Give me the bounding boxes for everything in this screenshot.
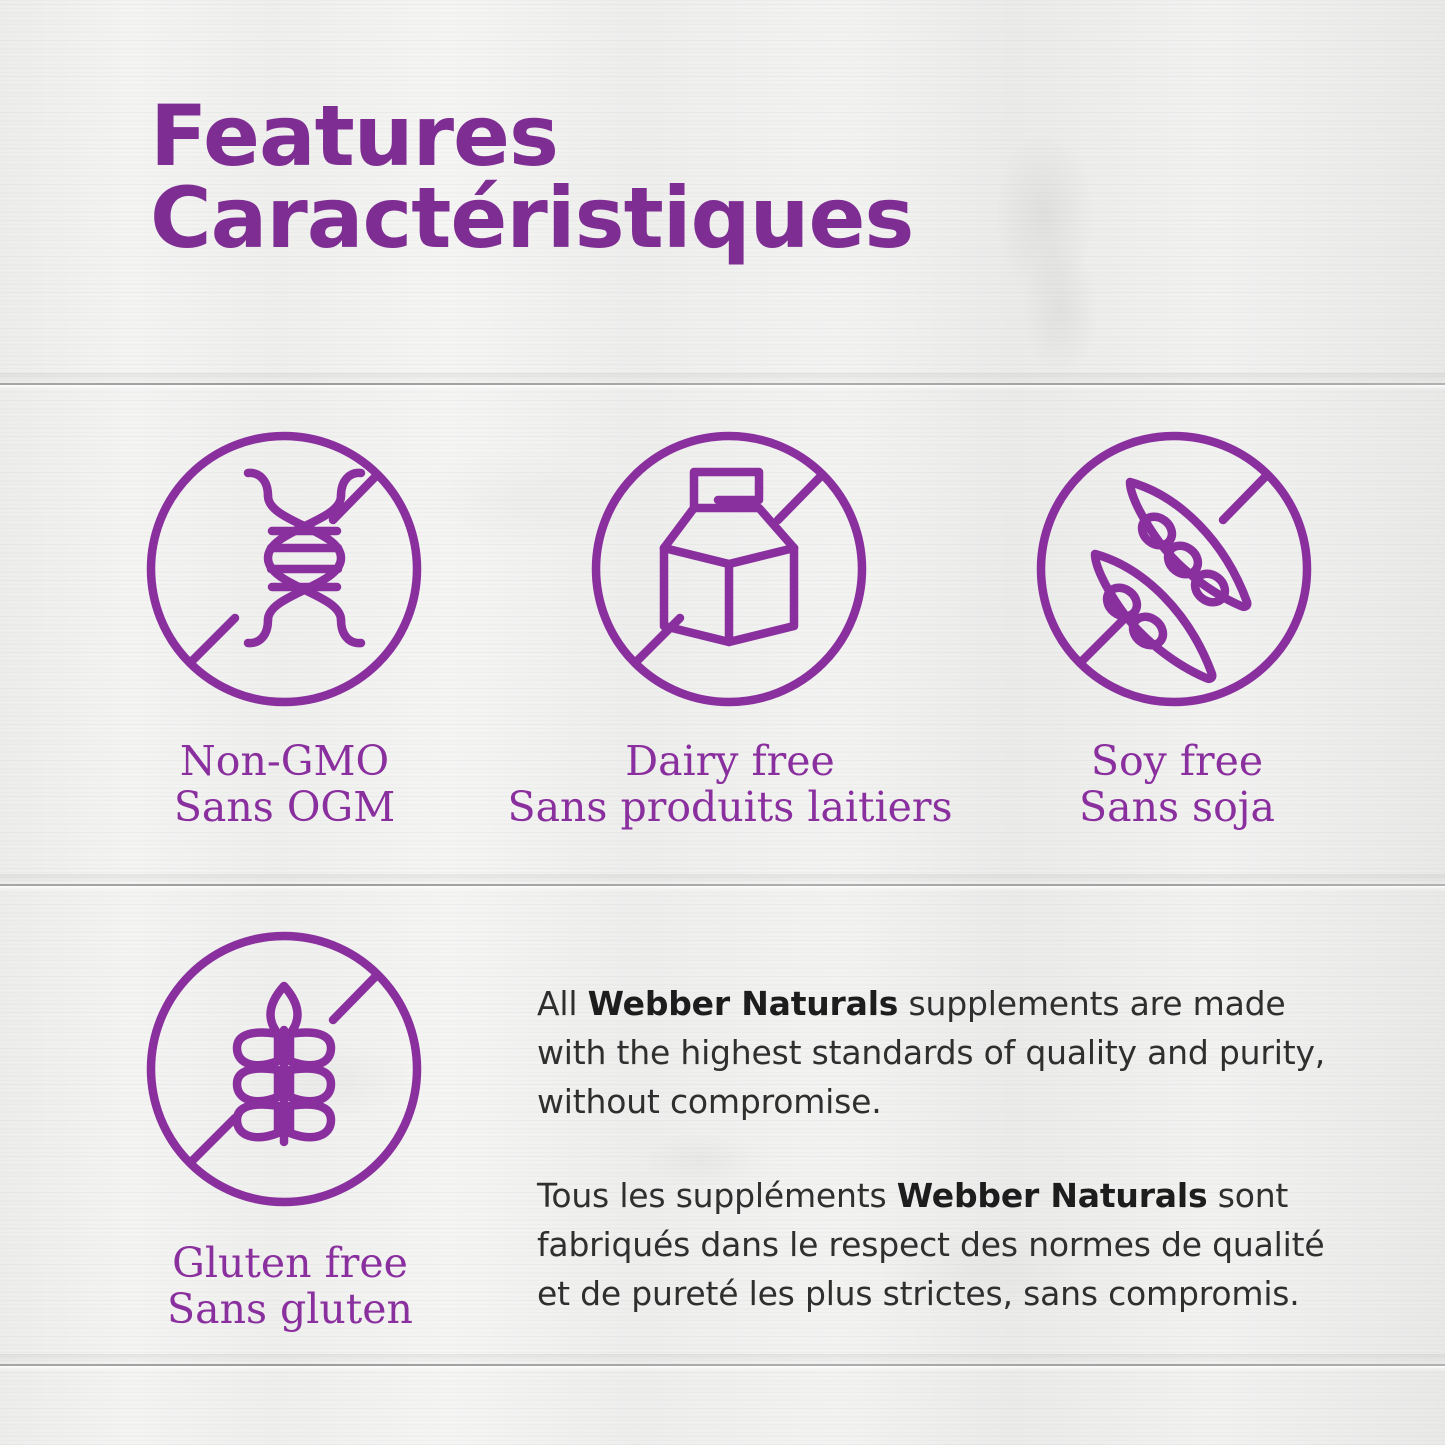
feature-caption-gluten-free-fr: Sans gluten [140, 1286, 440, 1332]
feature-caption-gluten-free: Gluten free Sans gluten [140, 1240, 440, 1333]
body-copy-en-before: All [537, 984, 588, 1023]
wheat-stalk-icon-glyph [237, 986, 331, 1142]
body-copy-en: All Webber Naturals supplements are made… [537, 980, 1327, 1126]
feature-caption-soy-free-en: Soy free [1032, 738, 1322, 784]
soy-pods-icon-glyph [1095, 482, 1247, 679]
feature-caption-dairy-free-fr: Sans produits laitiers [495, 784, 965, 830]
feature-caption-non-gmo-en: Non-GMO [142, 738, 427, 784]
page-title-fr: Caractéristiques [150, 177, 1300, 259]
brand-name-fr: Webber Naturals [897, 1176, 1208, 1215]
feature-caption-non-gmo: Non-GMO Sans OGM [142, 738, 427, 831]
feature-icon-soy-free [1035, 430, 1313, 708]
dna-no-gmo-icon-glyph [248, 473, 361, 643]
body-copy-fr: Tous les suppléments Webber Naturals son… [537, 1172, 1327, 1318]
feature-caption-dairy-free: Dairy free Sans produits laitiers [495, 738, 965, 831]
feature-caption-non-gmo-fr: Sans OGM [142, 784, 427, 830]
page-title-en: Features [150, 95, 1300, 177]
body-copy: All Webber Naturals supplements are made… [537, 980, 1327, 1319]
feature-icon-non-gmo [145, 430, 423, 708]
feature-caption-gluten-free-en: Gluten free [140, 1240, 440, 1286]
body-copy-fr-before: Tous les suppléments [537, 1176, 897, 1215]
feature-icon-dairy-free [590, 430, 868, 708]
feature-caption-soy-free: Soy free Sans soja [1032, 738, 1322, 831]
feature-icon-gluten-free [145, 930, 423, 1208]
features-panel: Features Caractéristiques [0, 0, 1445, 1445]
page-title: Features Caractéristiques [150, 95, 1300, 260]
feature-caption-dairy-free-en: Dairy free [495, 738, 965, 784]
feature-caption-soy-free-fr: Sans soja [1032, 784, 1322, 830]
brand-name-en: Webber Naturals [588, 984, 899, 1023]
